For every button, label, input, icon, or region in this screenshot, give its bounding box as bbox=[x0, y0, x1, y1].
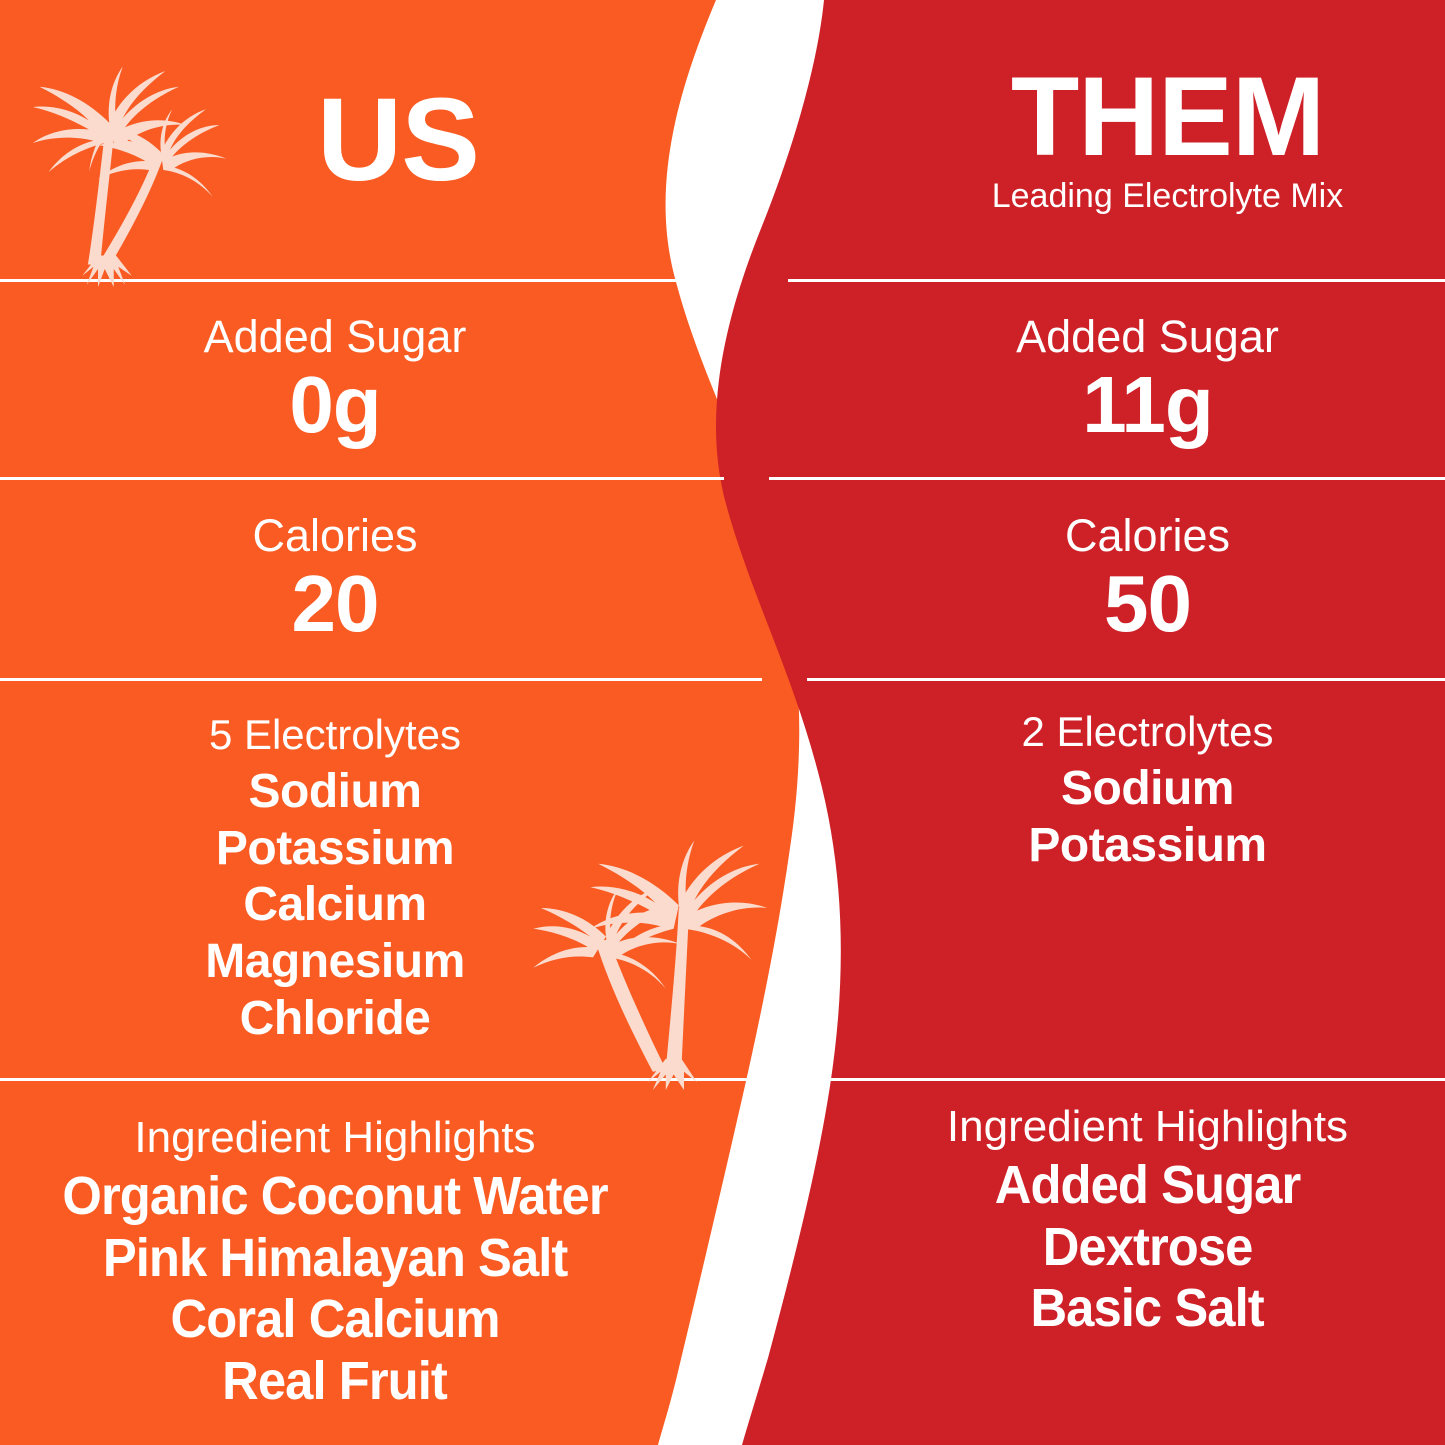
them-subtitle: Leading Electrolyte Mix bbox=[992, 177, 1344, 216]
us-added-sugar-label: Added Sugar bbox=[204, 313, 467, 360]
list-item: Chloride bbox=[240, 991, 431, 1048]
them-electrolytes-row: 2 Electrolytes Sodium Potassium bbox=[770, 681, 1445, 1078]
comparison-infographic: US Added Sugar 0g Calories 20 5 Electrol… bbox=[0, 0, 1445, 1445]
them-calories-row: Calories 50 bbox=[770, 480, 1445, 678]
list-item: Added Sugar bbox=[995, 1155, 1301, 1217]
us-calories-label: Calories bbox=[252, 512, 417, 559]
list-item: Sodium bbox=[1061, 761, 1234, 818]
list-item: Dextrose bbox=[1043, 1217, 1253, 1279]
them-header-row: THEM Leading Electrolyte Mix bbox=[770, 0, 1445, 280]
us-electrolytes-row: 5 Electrolytes Sodium Potassium Calcium … bbox=[0, 681, 700, 1078]
them-added-sugar-label: Added Sugar bbox=[1016, 313, 1279, 360]
them-added-sugar-value: 11g bbox=[1082, 363, 1212, 447]
list-item: Organic Coconut Water bbox=[62, 1166, 607, 1228]
them-calories-value: 50 bbox=[1104, 562, 1191, 646]
us-ingredients-row: Ingredient Highlights Organic Coconut Wa… bbox=[0, 1081, 700, 1445]
us-calories-value: 20 bbox=[292, 562, 379, 646]
us-electrolytes-list: Sodium Potassium Calcium Magnesium Chlor… bbox=[205, 764, 465, 1047]
list-item: Basic Salt bbox=[1031, 1278, 1264, 1340]
them-ingredients-row: Ingredient Highlights Added Sugar Dextro… bbox=[770, 1081, 1445, 1445]
list-item: Pink Himalayan Salt bbox=[103, 1228, 568, 1290]
us-ingredients-list: Organic Coconut Water Pink Himalayan Sal… bbox=[45, 1166, 625, 1412]
them-added-sugar-row: Added Sugar 11g bbox=[770, 283, 1445, 477]
us-header-row: US bbox=[0, 0, 700, 280]
list-item: Coral Calcium bbox=[170, 1289, 499, 1351]
them-ingredients-label: Ingredient Highlights bbox=[947, 1103, 1348, 1151]
list-item: Sodium bbox=[248, 764, 421, 821]
list-item: Potassium bbox=[1028, 818, 1266, 875]
us-ingredients-label: Ingredient Highlights bbox=[134, 1114, 535, 1162]
them-ingredients-list: Added Sugar Dextrose Basic Salt bbox=[985, 1155, 1310, 1340]
us-calories-row: Calories 20 bbox=[0, 480, 700, 678]
us-added-sugar-row: Added Sugar 0g bbox=[0, 283, 700, 477]
them-calories-label: Calories bbox=[1065, 512, 1230, 559]
us-electrolytes-label: 5 Electrolytes bbox=[209, 712, 461, 758]
list-item: Magnesium bbox=[205, 934, 465, 991]
them-electrolytes-label: 2 Electrolytes bbox=[1021, 709, 1273, 755]
list-item: Potassium bbox=[216, 821, 454, 878]
us-added-sugar-value: 0g bbox=[289, 363, 380, 447]
them-title: THEM bbox=[1011, 64, 1324, 170]
us-title: US bbox=[317, 84, 479, 196]
list-item: Real Fruit bbox=[223, 1351, 448, 1413]
them-electrolytes-list: Sodium Potassium bbox=[1028, 761, 1266, 874]
list-item: Calcium bbox=[243, 877, 426, 934]
